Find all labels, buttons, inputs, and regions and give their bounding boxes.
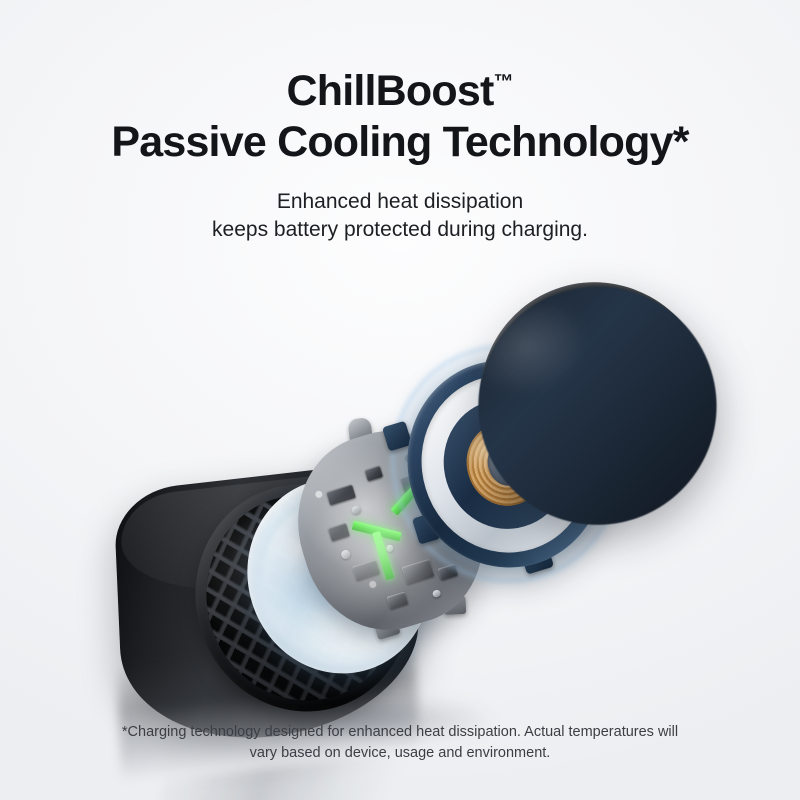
subheading-line-1: Enhanced heat dissipation [0, 188, 800, 216]
subheading: Enhanced heat dissipation keeps battery … [0, 188, 800, 244]
brand-name: ChillBoost [287, 67, 494, 115]
trademark-symbol: ™ [493, 71, 513, 93]
page-title: ChillBoost™ Passive Cooling Technology* [0, 0, 800, 166]
subheading-line-2: keeps battery protected during charging. [0, 216, 800, 244]
product-marketing-image: ChillBoost™ Passive Cooling Technology* … [0, 0, 800, 800]
headline-line-1: ChillBoost™ [0, 0, 800, 114]
footnote-line-2: vary based on device, usage and environm… [50, 743, 750, 764]
headline-line-2: Passive Cooling Technology* [0, 119, 800, 165]
footnote-line-1: *Charging technology designed for enhanc… [50, 722, 750, 743]
legal-footnote: *Charging technology designed for enhanc… [50, 722, 750, 763]
marketing-copy: ChillBoost™ Passive Cooling Technology* … [0, 0, 800, 244]
